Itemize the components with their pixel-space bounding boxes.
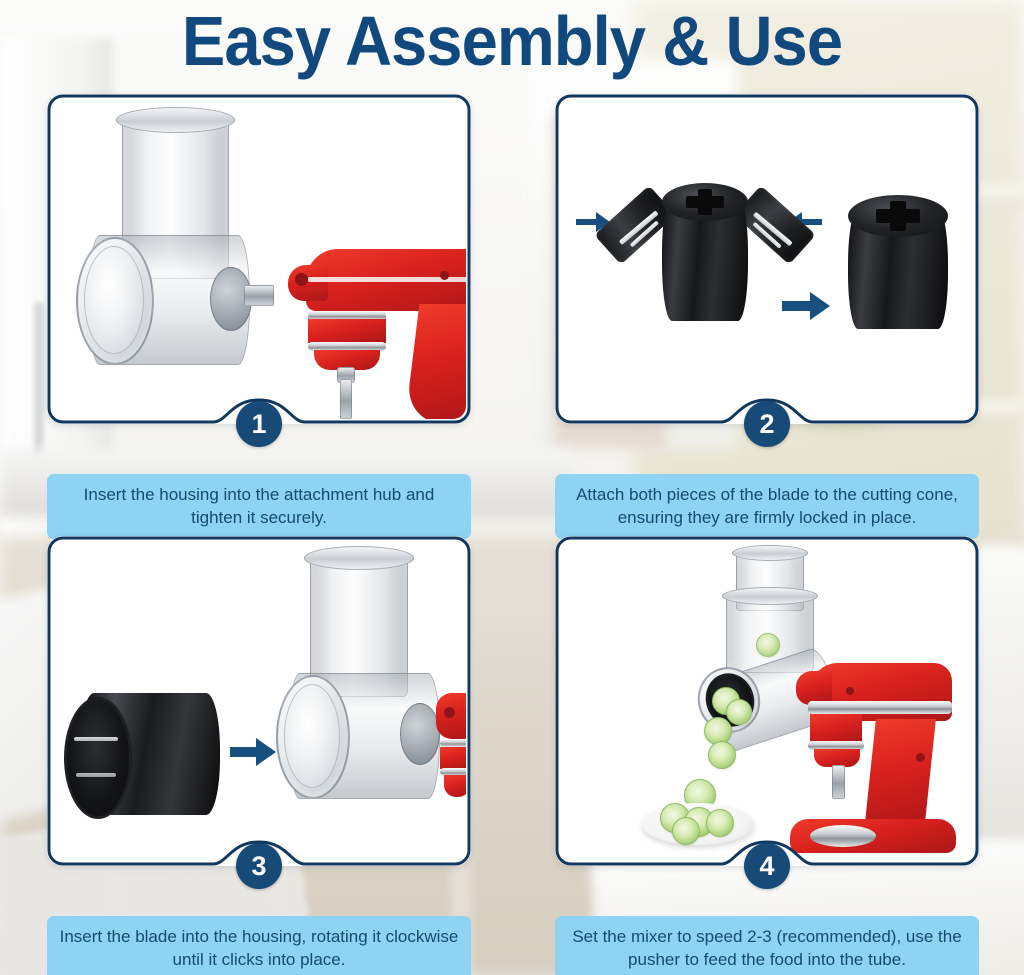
chute-rim (304, 546, 414, 570)
chute-rim (722, 587, 818, 605)
step-card-2[interactable]: 2 Attach both pieces of the blade to the… (555, 94, 1024, 534)
infographic-stage: Easy Assembly & Use (0, 0, 1024, 975)
cucumber-in-chute (756, 633, 780, 657)
arrow-assemble-icon (782, 291, 830, 321)
mixer-hub-collar (796, 671, 832, 705)
mixer-beater-shaft (832, 765, 845, 799)
step-badge-2: 2 (744, 401, 790, 447)
chute-rim (116, 107, 235, 133)
mixer-beater-shaft (340, 379, 352, 419)
step-badge-3: 3 (236, 843, 282, 889)
step-badge-4: 4 (744, 843, 790, 889)
mixer-hub-socket (444, 707, 455, 718)
step-caption-1: Insert the housing into the attachment h… (47, 474, 471, 539)
mixer-hub-collar (288, 265, 328, 301)
step-1-panel (47, 94, 471, 424)
step-caption-2: Attach both pieces of the blade to the c… (555, 474, 979, 539)
mixer-slicing-illustration (560, 541, 974, 861)
blade-drum-mouth (64, 697, 132, 819)
slicer-housing-illustration (52, 99, 466, 419)
blade-into-housing-illustration (52, 541, 466, 861)
step-2-photo (560, 99, 974, 419)
mixer-neck (440, 747, 466, 769)
mixer-hub-socket (295, 273, 308, 286)
housing-drive-hub (400, 703, 440, 765)
housing-shaft (244, 285, 274, 306)
housing-face-inner (284, 684, 340, 788)
step-card-1[interactable]: 1 Insert the housing into the attachment… (47, 94, 517, 534)
step-number: 4 (759, 851, 774, 882)
mixer-body-arm (405, 304, 466, 419)
step-4-photo (560, 541, 974, 861)
step-badge-1: 1 (236, 401, 282, 447)
blade-cone-illustration (560, 99, 974, 419)
step-card-3[interactable]: 3 Insert the blade into the housing, rot… (47, 536, 517, 975)
step-number: 3 (251, 851, 266, 882)
cone-socket-cross-horizontal (686, 196, 724, 208)
step-card-4[interactable]: 4 Set the mixer to speed 2-3 (recommende… (555, 536, 1024, 975)
mixer-neck (308, 319, 386, 343)
mixer-column (864, 719, 936, 831)
mixer-screw-dot (440, 271, 449, 280)
step-caption-4: Set the mixer to speed 2-3 (recommended)… (555, 916, 979, 975)
cucumber-slice (726, 699, 752, 725)
arrow-insert-icon (230, 737, 276, 767)
cucumber-slice-falling (708, 741, 736, 769)
mixer-bowl-plate (810, 825, 876, 847)
mixer-motor-base (444, 775, 466, 797)
mixer-screw-dot (916, 753, 925, 762)
mixer-screw-dot (846, 687, 854, 695)
blade-drum-slot (74, 737, 118, 741)
mixer-neck (810, 714, 862, 744)
mixer-chrome-band-top (440, 739, 466, 747)
step-3-photo (52, 541, 466, 861)
cucumber-slice-on-plate (672, 817, 700, 845)
step-2-panel (555, 94, 979, 424)
step-1-photo (52, 99, 466, 419)
step-number: 1 (251, 409, 266, 440)
cucumber-slice-on-plate (706, 809, 734, 837)
blade-drum-slot (76, 773, 116, 777)
step-caption-3: Insert the blade into the housing, rotat… (47, 916, 471, 975)
step-number: 2 (759, 409, 774, 440)
mixer-chrome-speed-band (808, 701, 952, 714)
housing-face-inner (84, 246, 144, 354)
steps-grid: 1 Insert the housing into the attachment… (0, 88, 1024, 975)
step-3-panel (47, 536, 471, 866)
step-4-panel (555, 536, 979, 866)
pusher-rim (732, 545, 808, 561)
cone-assembled-cross-horizontal (876, 209, 920, 223)
page-title: Easy Assembly & Use (36, 0, 988, 86)
